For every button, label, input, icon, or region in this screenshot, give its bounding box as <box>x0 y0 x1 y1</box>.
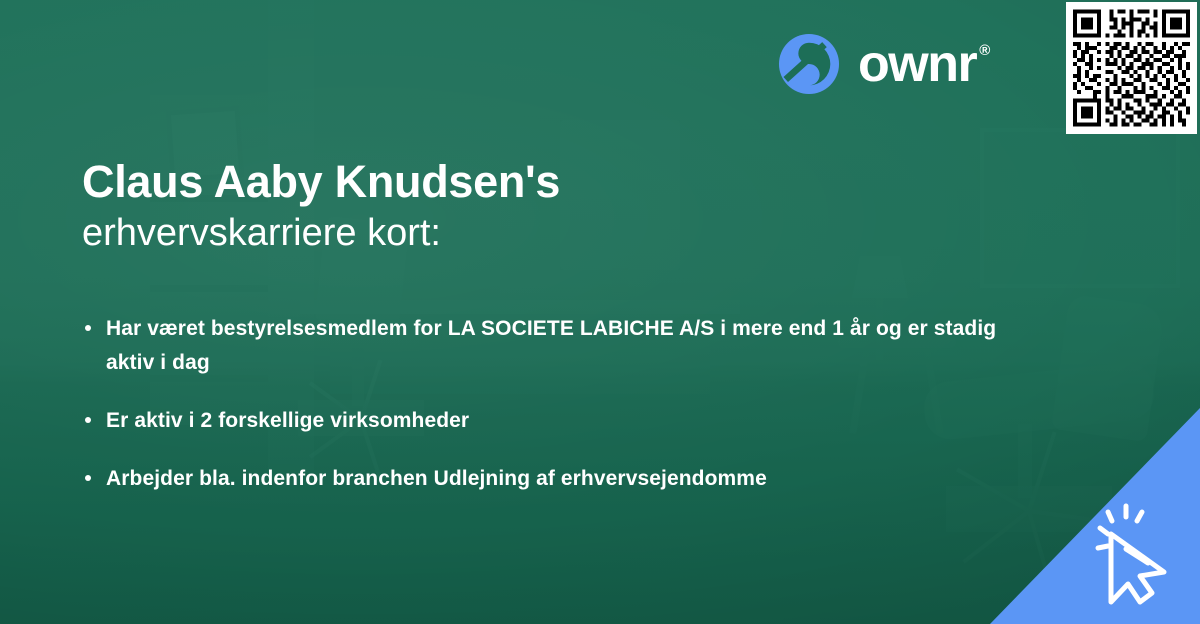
career-card: ownr ® <box>0 0 1200 624</box>
list-item-text: Arbejder bla. indenfor branchen Udlejnin… <box>106 467 767 490</box>
list-item: Er aktiv i 2 forskellige virksomheder <box>82 404 1042 438</box>
list-item: Arbejder bla. indenfor branchen Udlejnin… <box>82 462 1042 496</box>
page-subtitle: erhvervskarriere kort: <box>82 211 441 257</box>
bullet-dot-icon <box>85 325 91 331</box>
bullet-dot-icon <box>85 417 91 423</box>
ownr-circle-swoosh-logo-icon <box>778 33 840 95</box>
brand-wordmark: ownr ® <box>858 38 989 90</box>
registered-mark: ® <box>979 43 989 58</box>
list-item-text: Har været bestyrelsesmedlem for LA SOCIE… <box>106 317 996 374</box>
bullet-dot-icon <box>85 475 91 481</box>
click-cursor-icon <box>1078 494 1186 606</box>
list-item-text: Er aktiv i 2 forskellige virksomheder <box>106 409 469 432</box>
brand-logo[interactable]: ownr ® <box>778 33 989 95</box>
career-facts-list: Har været bestyrelsesmedlem for LA SOCIE… <box>82 312 1042 496</box>
page-title: Claus Aaby Knudsen's <box>82 155 560 208</box>
qr-code[interactable] <box>1066 2 1197 134</box>
list-item: Har været bestyrelsesmedlem for LA SOCIE… <box>82 312 1042 380</box>
brand-name: ownr <box>858 38 976 90</box>
